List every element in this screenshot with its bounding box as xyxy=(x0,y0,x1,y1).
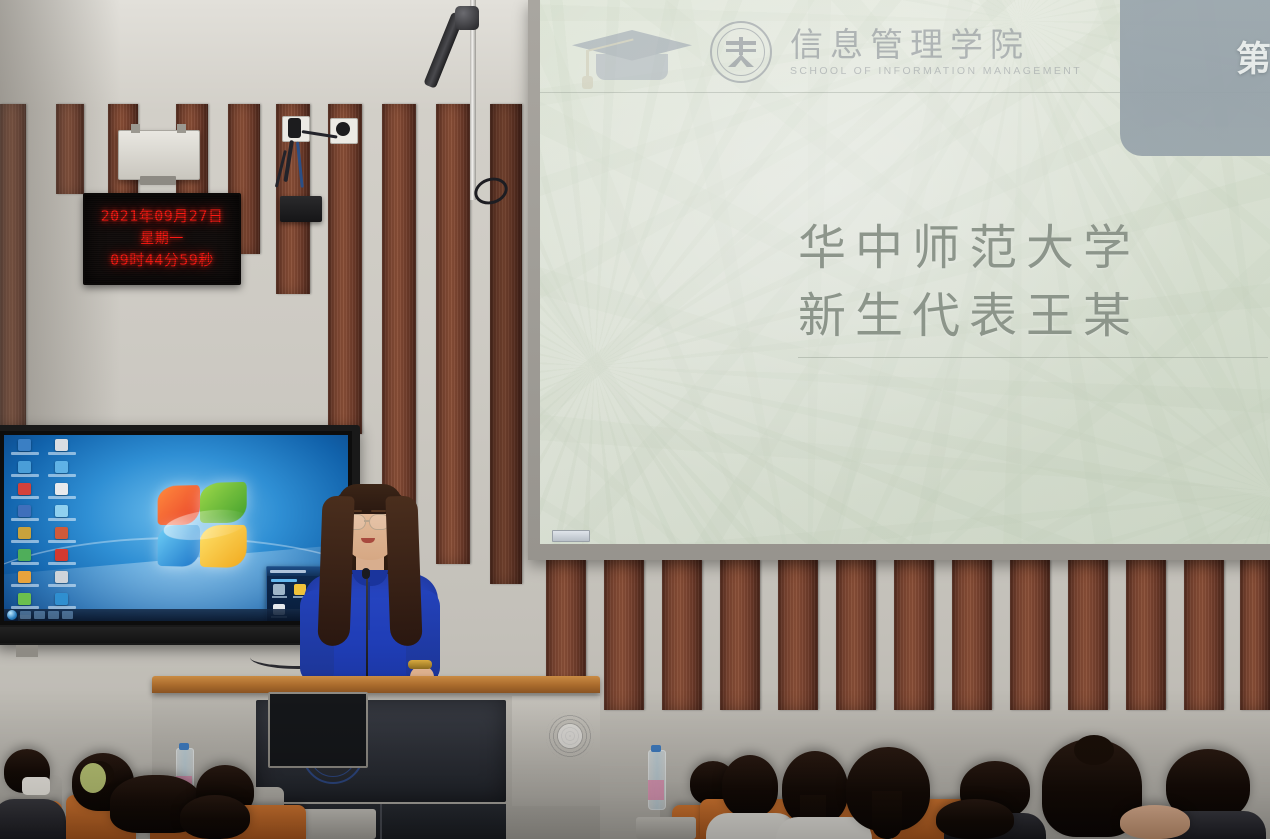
dialog-section-label xyxy=(271,579,297,582)
wood-slat xyxy=(1240,560,1270,710)
shirt-placket xyxy=(368,582,370,630)
wood-slat xyxy=(720,560,760,710)
hair-strand-right xyxy=(385,495,422,646)
seated-audience xyxy=(0,690,1270,839)
wood-slat xyxy=(436,104,470,564)
wood-slat xyxy=(952,560,992,710)
audience-shoulders xyxy=(0,799,66,839)
wood-slat xyxy=(604,560,644,710)
wood-slat xyxy=(836,560,876,710)
desktop-icon[interactable] xyxy=(45,483,78,503)
student-speaker xyxy=(300,470,440,700)
desktop-icon[interactable] xyxy=(8,571,41,591)
desktop-icon[interactable] xyxy=(45,439,78,459)
audience-head xyxy=(722,755,778,817)
eyebrow xyxy=(371,510,386,512)
desktop-icon[interactable] xyxy=(8,549,41,569)
green-scrunchie xyxy=(80,763,106,793)
desktop-icon[interactable] xyxy=(8,483,41,503)
taskbar-button[interactable] xyxy=(34,611,45,619)
panel-stand xyxy=(16,645,38,657)
clock-weekday: 星期一 xyxy=(140,229,184,249)
audience-head xyxy=(1120,805,1190,839)
clock-date: 2021年09月27日 xyxy=(101,206,224,228)
led-wall-clock: 2021年09月27日 星期一 09时44分59秒 xyxy=(83,193,241,285)
desktop-icon[interactable] xyxy=(45,549,78,569)
taskbar-button[interactable] xyxy=(20,611,31,619)
screen-brand-label xyxy=(552,530,590,542)
clock-time: 09时44分59秒 xyxy=(110,250,214,272)
screen-vignette xyxy=(540,0,1270,544)
desktop-icon[interactable] xyxy=(45,505,78,525)
desktop-icon[interactable] xyxy=(8,439,41,459)
wood-slat xyxy=(1068,560,1108,710)
windows-logo-icon xyxy=(158,482,249,570)
wristwatch xyxy=(408,660,432,669)
desktop-icon-grid[interactable] xyxy=(8,439,82,621)
start-button-icon[interactable] xyxy=(7,610,17,620)
bottle-cap xyxy=(651,745,661,752)
desktop-icon[interactable] xyxy=(8,527,41,547)
desktop-icon[interactable] xyxy=(45,571,78,591)
desktop-icon[interactable] xyxy=(45,527,78,547)
wood-slat xyxy=(328,104,362,434)
wood-slat xyxy=(1010,560,1050,710)
power-plug xyxy=(336,122,350,136)
wood-slat xyxy=(894,560,934,710)
power-plug xyxy=(288,118,301,138)
desktop-icon[interactable] xyxy=(8,505,41,525)
audience-head xyxy=(180,795,250,839)
face-mask xyxy=(22,777,50,795)
dialog-app-icon[interactable] xyxy=(271,584,287,602)
windows-taskbar[interactable] xyxy=(4,609,348,621)
windows-desktop[interactable] xyxy=(4,435,348,621)
projection-screen: 信息管理学院 SCHOOL OF INFORMATION MANAGEMENT … xyxy=(540,0,1270,544)
wood-slat xyxy=(662,560,702,710)
audience-head xyxy=(936,799,1014,839)
ceiling-pole xyxy=(470,0,476,200)
hair-bun xyxy=(1074,735,1114,765)
wood-slat xyxy=(1126,560,1166,710)
wood-slat xyxy=(778,560,818,710)
ceiling-camera-icon xyxy=(455,6,479,30)
wood-slat xyxy=(490,104,522,584)
bottle-label xyxy=(648,780,664,800)
wood-slat xyxy=(1184,560,1224,710)
microphone-head-icon xyxy=(362,568,370,579)
desktop-icon[interactable] xyxy=(8,461,41,481)
taskbar-button[interactable] xyxy=(62,611,73,619)
glasses-bridge xyxy=(364,520,370,522)
desktop-icon[interactable] xyxy=(45,461,78,481)
gooseneck-microphone xyxy=(366,575,368,683)
taskbar-button[interactable] xyxy=(48,611,59,619)
lecture-hall-photo: 2021年09月27日 星期一 09时44分59秒 信息管理学院 SCHOOL … xyxy=(0,0,1270,839)
bottle-cap xyxy=(179,743,189,750)
equipment-box xyxy=(280,196,322,222)
desk-tray xyxy=(636,817,696,839)
wall-speaker xyxy=(118,130,200,180)
speaker-bracket xyxy=(140,176,176,185)
ponytail xyxy=(872,791,902,839)
hair-strand-left xyxy=(317,495,354,646)
seat-monitor xyxy=(268,692,368,768)
